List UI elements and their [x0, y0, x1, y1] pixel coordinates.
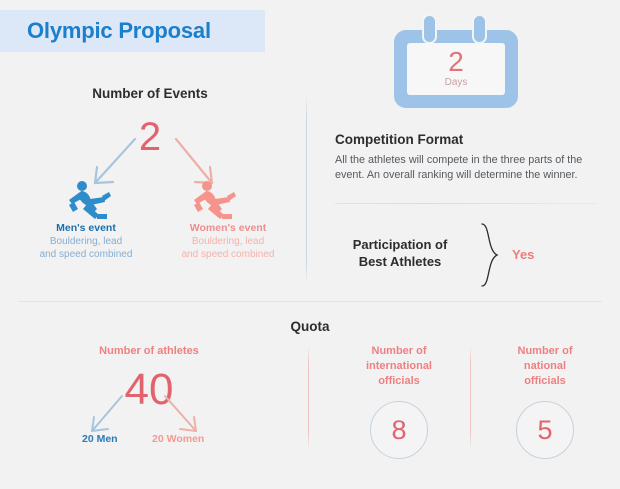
intl-officials-title-line3: officials [324, 374, 474, 389]
quota-women-count: 20 Women [152, 433, 204, 445]
natl-officials-title-line1: Number of [470, 344, 620, 359]
title-banner: Olympic Proposal [0, 10, 265, 52]
calendar-inner-panel: 2 Days [407, 43, 505, 95]
women-event-label: Women's event Bouldering, lead and speed… [163, 221, 293, 261]
natl-officials-title-line3: officials [470, 374, 620, 389]
calendar-days-unit: Days [445, 76, 468, 89]
participation-label-line2: Best Athletes [330, 253, 470, 270]
competition-format-body: All the athletes will compete in the thr… [335, 153, 593, 183]
calendar-icon: 2 Days [394, 14, 518, 108]
intl-officials-title-line1: Number of [324, 344, 474, 359]
curly-brace-icon [478, 222, 504, 288]
intl-officials-title-line2: international [324, 359, 474, 374]
quota-section-heading: Quota [0, 319, 620, 334]
competition-format-title: Competition Format [335, 132, 463, 147]
quota-international-officials: Number of international officials 8 [324, 344, 474, 459]
natl-officials-title-line2: national [470, 359, 620, 374]
women-event-title: Women's event [163, 221, 293, 235]
men-event-title: Men's event [21, 221, 151, 235]
divider-horizontal-right-column [335, 203, 597, 204]
divider-horizontal-quota [18, 301, 602, 302]
participation-label: Participation of Best Athletes [330, 236, 470, 270]
participation-label-line1: Participation of [330, 236, 470, 253]
men-event-subtitle-line2: and speed combined [21, 248, 151, 261]
divider-vertical-main [306, 95, 307, 285]
events-section-heading: Number of Events [0, 86, 300, 101]
quota-men-count: 20 Men [82, 433, 118, 445]
quota-national-officials: Number of national officials 5 [470, 344, 620, 459]
calendar-ring-right-icon [472, 14, 487, 44]
women-climber-figure-icon [191, 178, 239, 222]
calendar-days-count: 2 [448, 49, 464, 75]
women-event-subtitle-line2: and speed combined [163, 248, 293, 261]
calendar-ring-left-icon [422, 14, 437, 44]
intl-officials-value: 8 [370, 401, 428, 459]
men-event-label: Men's event Bouldering, lead and speed c… [21, 221, 151, 261]
divider-vertical-quota-1 [308, 345, 309, 450]
infographic-canvas: Olympic Proposal Number of Events 2 [0, 0, 620, 489]
natl-officials-value: 5 [516, 401, 574, 459]
men-climber-figure-icon [66, 178, 114, 222]
quota-athletes-label: Number of athletes [44, 345, 254, 357]
participation-value: Yes [512, 247, 534, 262]
women-event-subtitle-line1: Bouldering, lead [163, 235, 293, 248]
page-title: Olympic Proposal [27, 18, 211, 44]
men-event-subtitle-line1: Bouldering, lead [21, 235, 151, 248]
